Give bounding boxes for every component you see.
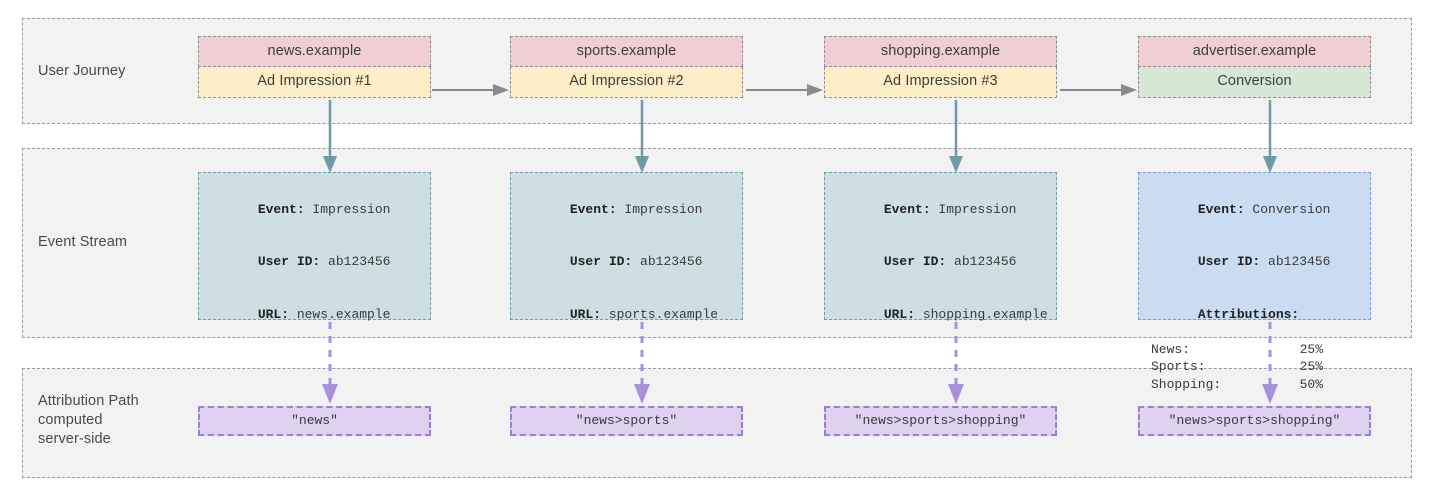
event-field-row: User ID: ab123456 xyxy=(211,236,418,289)
journey-site-3: shopping.example xyxy=(824,36,1057,67)
event-field-value: news.example xyxy=(289,307,390,322)
event-field-row: URL: sports.example xyxy=(523,288,730,341)
attribution-percent: 25% xyxy=(1300,341,1323,359)
event-field-row: Event: Conversion xyxy=(1151,183,1358,236)
attribution-row-shopping: Shopping: 50% xyxy=(1151,376,1323,394)
event-card-4[interactable]: Event: Conversion User ID: ab123456 Attr… xyxy=(1138,172,1371,320)
event-field-key: URL: xyxy=(258,307,289,322)
event-field-value: ab123456 xyxy=(320,254,390,269)
event-field-row: Event: Impression xyxy=(211,183,418,236)
event-field-row: User ID: ab123456 xyxy=(837,236,1044,289)
attribution-name: Sports: xyxy=(1151,358,1206,376)
event-field-key: User ID: xyxy=(570,254,632,269)
attribution-diagram: User Journey Event Stream Attribution Pa… xyxy=(0,0,1436,504)
event-field-key: User ID: xyxy=(884,254,946,269)
attribution-row-news: News: 25% xyxy=(1151,341,1323,359)
journey-card-3[interactable]: shopping.example Ad Impression #3 xyxy=(824,36,1057,98)
journey-card-4[interactable]: advertiser.example Conversion xyxy=(1138,36,1371,98)
event-field-value: Impression xyxy=(305,202,391,217)
event-field-key: User ID: xyxy=(258,254,320,269)
event-field-key: Attributions: xyxy=(1198,307,1299,322)
attribution-path-box-1[interactable]: "news" xyxy=(198,406,431,436)
event-field-value: sports.example xyxy=(601,307,718,322)
lane-label-event-stream: Event Stream xyxy=(38,233,127,252)
attribution-name: News: xyxy=(1151,341,1190,359)
event-card-2[interactable]: Event: Impression User ID: ab123456 URL:… xyxy=(510,172,743,320)
journey-card-1[interactable]: news.example Ad Impression #1 xyxy=(198,36,431,98)
lane-label-user-journey: User Journey xyxy=(38,62,125,81)
journey-card-2[interactable]: sports.example Ad Impression #2 xyxy=(510,36,743,98)
event-field-row: URL: shopping.example xyxy=(837,288,1044,341)
journey-site-4: advertiser.example xyxy=(1138,36,1371,67)
event-card-1[interactable]: Event: Impression User ID: ab123456 URL:… xyxy=(198,172,431,320)
journey-action-2: Ad Impression #2 xyxy=(510,67,743,98)
event-field-row: Event: Impression xyxy=(523,183,730,236)
event-field-key: Event: xyxy=(570,202,617,217)
attribution-name: Shopping: xyxy=(1151,376,1221,394)
attribution-path-box-4[interactable]: "news>sports>shopping" xyxy=(1138,406,1371,436)
journey-action-4: Conversion xyxy=(1138,67,1371,98)
event-field-row: Attributions: xyxy=(1151,288,1358,341)
event-field-key: URL: xyxy=(570,307,601,322)
event-field-key: Event: xyxy=(884,202,931,217)
event-field-row: Event: Impression xyxy=(837,183,1044,236)
event-field-key: User ID: xyxy=(1198,254,1260,269)
event-field-key: Event: xyxy=(1198,202,1245,217)
event-field-value: ab123456 xyxy=(1260,254,1330,269)
event-field-value: Impression xyxy=(931,202,1017,217)
event-field-key: URL: xyxy=(884,307,915,322)
attribution-percent: 50% xyxy=(1300,376,1323,394)
journey-site-1: news.example xyxy=(198,36,431,67)
attribution-percent: 25% xyxy=(1300,358,1323,376)
event-field-row: User ID: ab123456 xyxy=(523,236,730,289)
event-field-value: ab123456 xyxy=(946,254,1016,269)
event-field-row: URL: news.example xyxy=(211,288,418,341)
attribution-row-sports: Sports: 25% xyxy=(1151,358,1323,376)
event-field-value: shopping.example xyxy=(915,307,1048,322)
event-card-3[interactable]: Event: Impression User ID: ab123456 URL:… xyxy=(824,172,1057,320)
event-field-value: ab123456 xyxy=(632,254,702,269)
event-field-value: Impression xyxy=(617,202,703,217)
journey-action-1: Ad Impression #1 xyxy=(198,67,431,98)
attribution-path-box-3[interactable]: "news>sports>shopping" xyxy=(824,406,1057,436)
journey-action-3: Ad Impression #3 xyxy=(824,67,1057,98)
journey-site-2: sports.example xyxy=(510,36,743,67)
event-field-value: Conversion xyxy=(1245,202,1331,217)
event-field-row: User ID: ab123456 xyxy=(1151,236,1358,289)
attribution-path-box-2[interactable]: "news>sports" xyxy=(510,406,743,436)
lane-label-attribution-path: Attribution Path computed server-side xyxy=(38,392,139,449)
event-field-key: Event: xyxy=(258,202,305,217)
